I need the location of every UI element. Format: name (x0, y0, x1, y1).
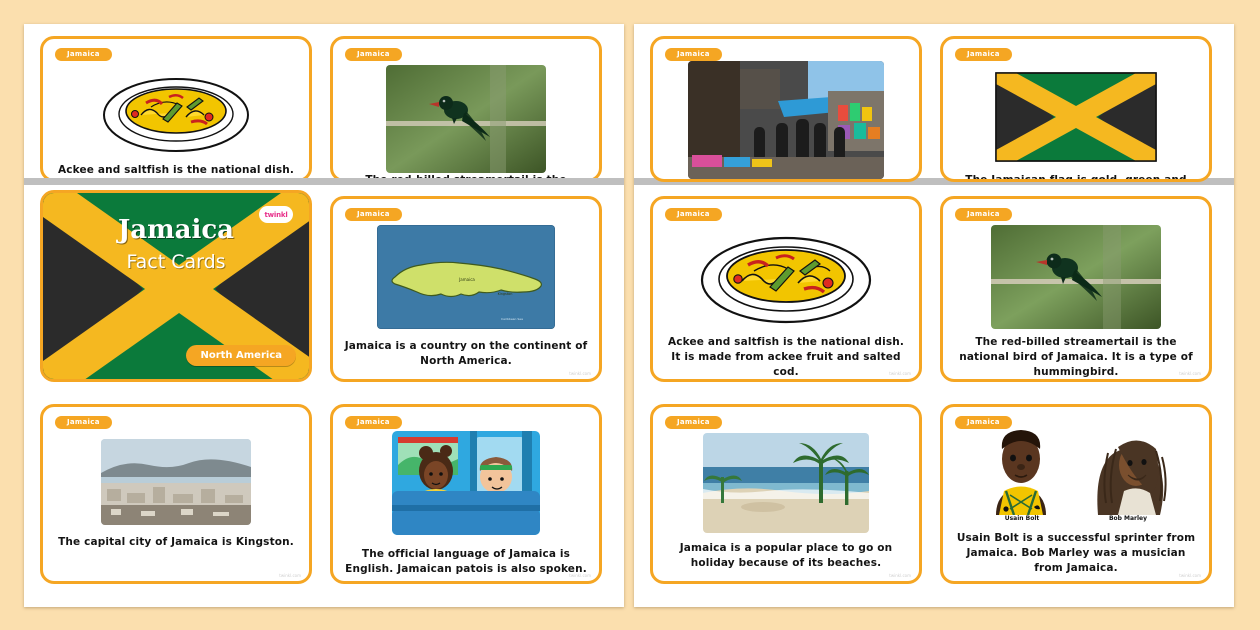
red-billed-streamertail-photo (386, 65, 546, 173)
ackee-and-saltfish-illustration (91, 67, 261, 159)
card-text: Usain Bolt is a successful sprinter from… (953, 531, 1199, 577)
card-market[interactable]: Jamaica (650, 36, 922, 182)
svg-text:Caribbean Sea: Caribbean Sea (501, 317, 523, 321)
card-beach[interactable]: Jamaica Jamaica is a popular place to go… (650, 404, 922, 584)
page-title: Jamaica (43, 215, 309, 245)
label-bob-marley: Bob Marley (1083, 515, 1173, 522)
card-text: Jamaica is a country on the continent of… (343, 339, 589, 369)
card-badge: Jamaica (345, 48, 402, 61)
page-overlap-edge (24, 178, 624, 185)
watermark: twinkl.com (279, 573, 301, 578)
watermark: twinkl.com (569, 371, 591, 376)
card-badge: Jamaica (665, 208, 722, 221)
card-capital[interactable]: Jamaica The capital city of Jamaica is K… (40, 404, 312, 584)
card-flag[interactable]: Jamaica The Jamaican flag is gold, green… (940, 36, 1212, 182)
usain-bolt-and-bob-marley-illustration (956, 429, 1196, 515)
card-ackee-right[interactable]: Jamaica Ackee and saltfish is the nation… (650, 196, 922, 382)
card-badge: Jamaica (665, 416, 722, 429)
card-text: The capital city of Jamaica is Kingston. (53, 535, 299, 550)
worksheet-preview: Jamaica Ackee and saltfish is the nation… (0, 0, 1260, 630)
title-card[interactable]: twinkl Jamaica Fact Cards North America (40, 190, 312, 382)
card-language[interactable]: Jamaica The official language of Jamaica… (330, 404, 602, 584)
card-badge: Jamaica (955, 208, 1012, 221)
map-of-jamaica: JamaicaKingstonCaribbean Sea (377, 225, 555, 329)
card-bird-left[interactable]: Jamaica The red-billed streamertail is t… (330, 36, 602, 182)
watermark: twinkl.com (889, 371, 911, 376)
card-bird-right[interactable]: Jamaica The red-billed streamertail is t… (940, 196, 1212, 382)
card-text: The official language of Jamaica is Engl… (343, 547, 589, 577)
ackee-and-saltfish-illustration (688, 225, 884, 331)
card-map[interactable]: Jamaica JamaicaKingstonCaribbean Sea Jam… (330, 196, 602, 382)
card-badge: Jamaica (345, 208, 402, 221)
card-badge: Jamaica (55, 416, 112, 429)
children-on-bus-illustration (392, 431, 540, 535)
page-subtitle: Fact Cards (43, 251, 309, 273)
card-text: The red-billed streamertail is the natio… (953, 335, 1199, 381)
jamaican-market-photo (688, 61, 884, 179)
kingston-city-photo (101, 439, 251, 525)
card-badge: Jamaica (955, 48, 1012, 61)
watermark: twinkl.com (569, 573, 591, 578)
jamaican-beach-photo (703, 433, 869, 533)
card-badge: Jamaica (665, 48, 722, 61)
svg-text:Jamaica: Jamaica (458, 277, 475, 282)
region-badge: North America (186, 345, 296, 366)
card-text: Jamaica is a popular place to go on holi… (663, 541, 909, 571)
jamaican-flag-illustration (990, 65, 1162, 169)
card-badge: Jamaica (345, 416, 402, 429)
card-badge: Jamaica (55, 48, 112, 61)
card-people[interactable]: Jamaica (940, 404, 1212, 584)
card-badge: Jamaica (955, 416, 1012, 429)
card-text: Ackee and saltfish is the national dish.… (663, 335, 909, 381)
watermark: twinkl.com (1179, 573, 1201, 578)
red-billed-streamertail-photo (991, 225, 1161, 329)
card-ackee-left[interactable]: Jamaica Ackee and saltfish is the nation… (40, 36, 312, 182)
watermark: twinkl.com (1179, 371, 1201, 376)
watermark: twinkl.com (889, 573, 911, 578)
label-usain-bolt: Usain Bolt (977, 515, 1067, 522)
card-text: The Jamaican flag is gold, green and bla… (953, 173, 1199, 182)
svg-text:Kingston: Kingston (498, 292, 513, 296)
